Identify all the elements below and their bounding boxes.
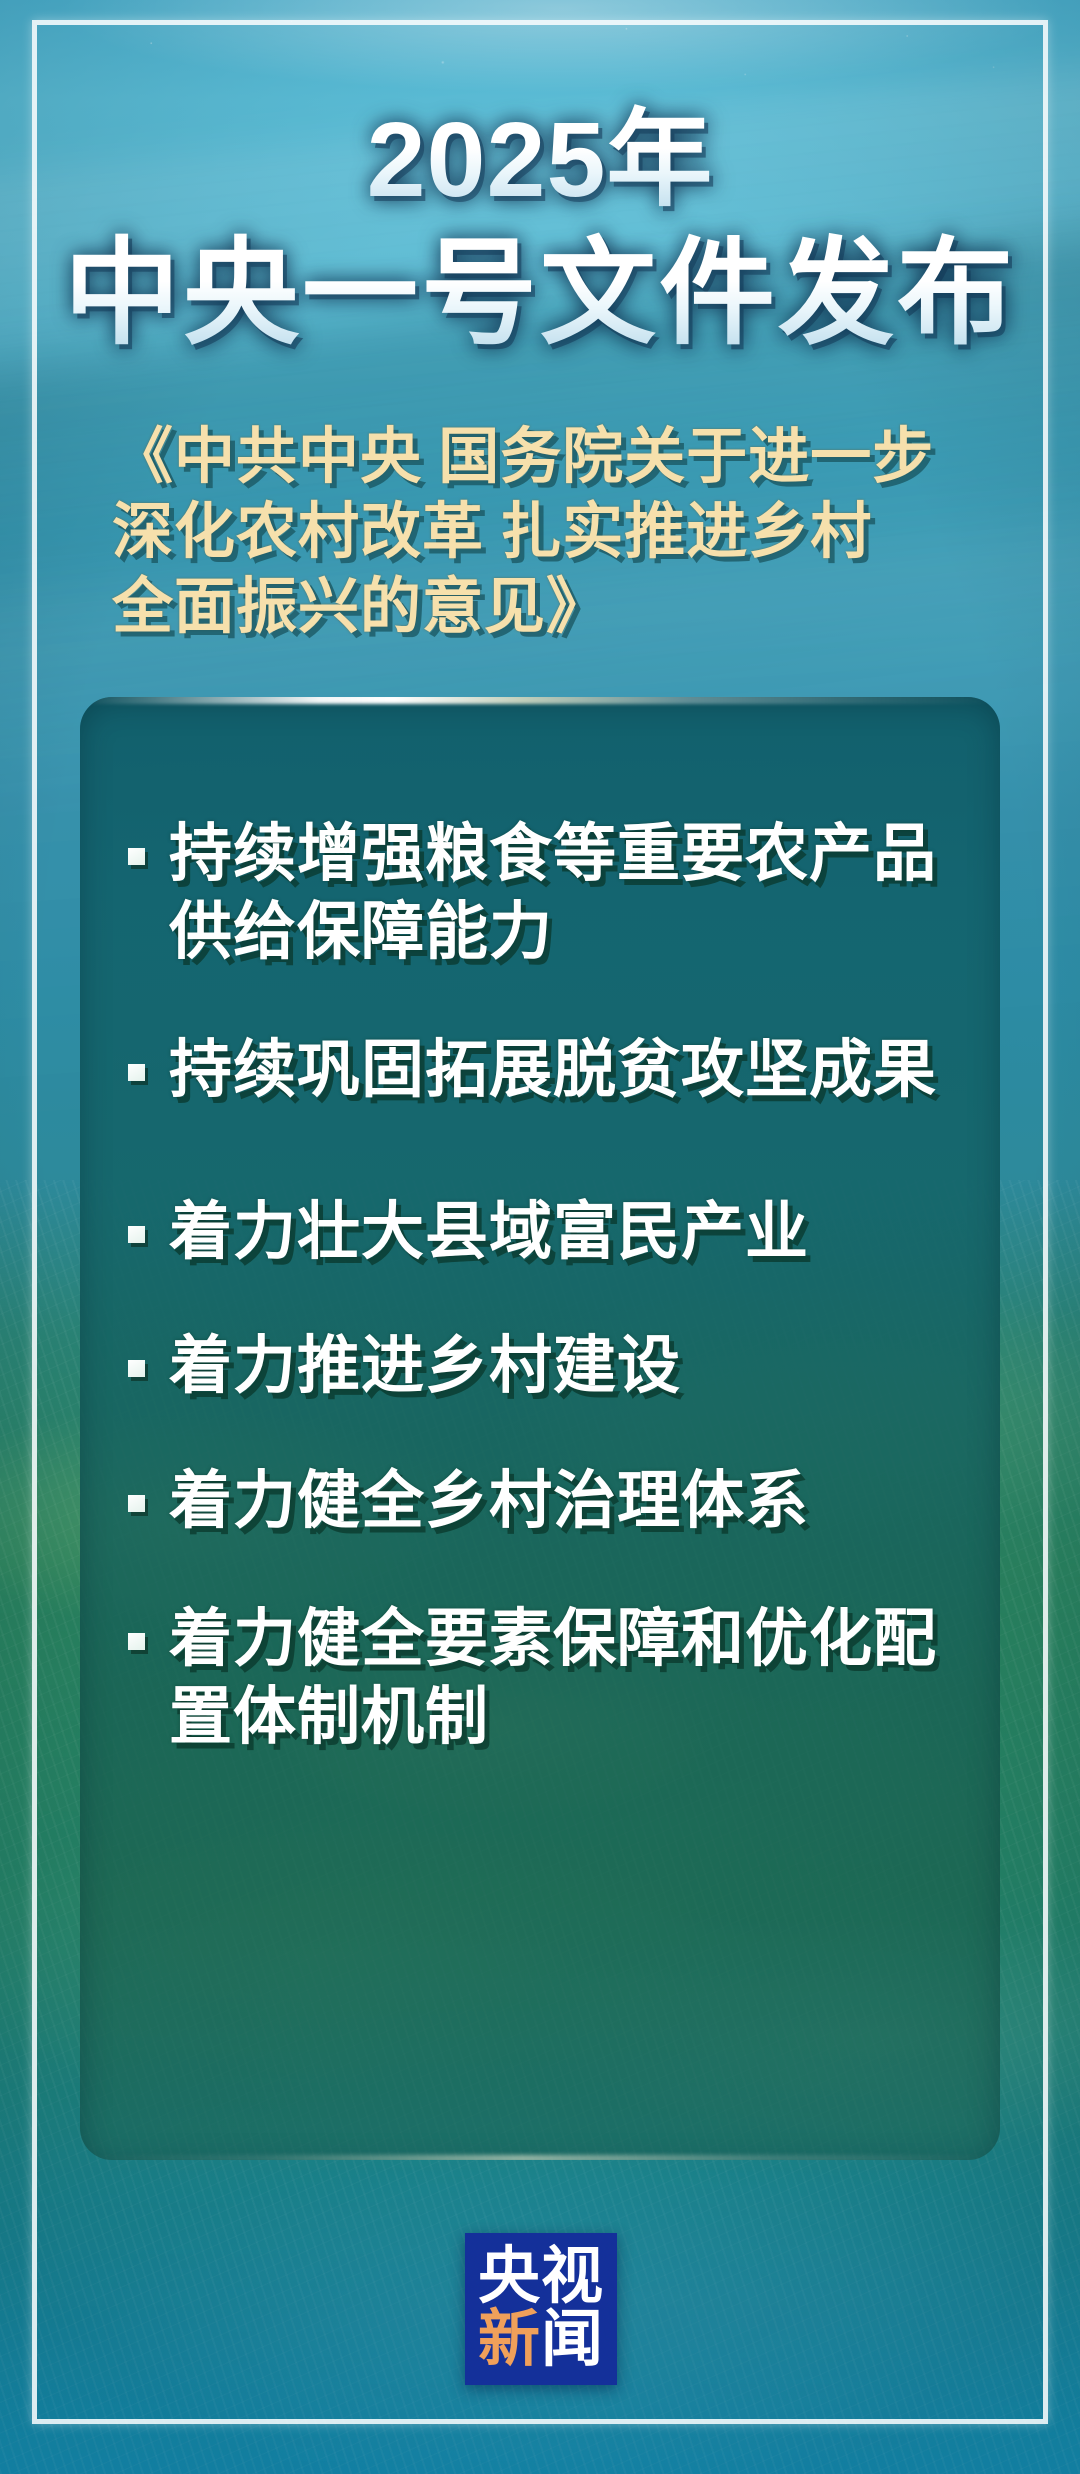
subtitle-line-3: 全面振兴的意见》 bbox=[112, 570, 990, 645]
bullet-square-icon bbox=[128, 1226, 145, 1243]
bullet-square-icon bbox=[128, 1633, 145, 1650]
page-title-year: 2025年 bbox=[0, 104, 1080, 216]
header-titles: 2025年 中央一号文件发布 bbox=[0, 104, 1080, 355]
card-bottom-light-streak bbox=[80, 2155, 1000, 2160]
logo-line-xinwen: 新 闻 bbox=[478, 2310, 604, 2371]
subtitle-line-2: 深化农村改革 扎实推进乡村 bbox=[112, 495, 990, 570]
bullet-square-icon bbox=[128, 848, 145, 865]
list-item-label: 着力健全乡村治理体系 bbox=[169, 1462, 809, 1540]
logo-char-wen: 闻 bbox=[541, 2310, 604, 2371]
logo-char-xin: 新 bbox=[478, 2310, 541, 2371]
logo-line-yangshi: 央视 bbox=[478, 2247, 604, 2308]
subtitle-line-1: 《中共中央 国务院关于进一步 bbox=[112, 420, 990, 495]
list-item: 着力健全要素保障和优化配置体制机制 bbox=[128, 1600, 974, 1756]
list-item: 着力推进乡村建设 bbox=[128, 1327, 974, 1405]
poster-root: 2025年 中央一号文件发布 《中共中央 国务院关于进一步 深化农村改革 扎实推… bbox=[0, 0, 1080, 2474]
list-item-label: 持续巩固拓展脱贫攻坚成果 bbox=[169, 1031, 937, 1109]
cctv-news-logo: 央视 新 闻 bbox=[465, 2233, 617, 2385]
bullet-square-icon bbox=[128, 1360, 145, 1377]
card-top-light-streak bbox=[80, 697, 1000, 704]
page-title-main: 中央一号文件发布 bbox=[0, 232, 1080, 355]
list-item-label: 持续增强粮食等重要农产品供给保障能力 bbox=[169, 815, 974, 971]
list-item-label: 着力推进乡村建设 bbox=[169, 1327, 681, 1405]
list-item: 持续增强粮食等重要农产品供给保障能力 bbox=[128, 815, 974, 971]
list-item: 着力壮大县域富民产业 bbox=[128, 1193, 974, 1271]
document-subtitle: 《中共中央 国务院关于进一步 深化农村改革 扎实推进乡村 全面振兴的意见》 bbox=[112, 420, 990, 645]
highlights-card: 持续增强粮食等重要农产品供给保障能力 持续巩固拓展脱贫攻坚成果 着力壮大县域富民… bbox=[80, 697, 1000, 2160]
list-item-label: 着力健全要素保障和优化配置体制机制 bbox=[169, 1600, 974, 1756]
list-item: 持续巩固拓展脱贫攻坚成果 bbox=[128, 1031, 974, 1109]
highlights-list: 持续增强粮食等重要农产品供给保障能力 持续巩固拓展脱贫攻坚成果 着力壮大县域富民… bbox=[128, 815, 974, 1756]
bullet-square-icon bbox=[128, 1064, 145, 1081]
bullet-square-icon bbox=[128, 1495, 145, 1512]
list-item-label: 着力壮大县域富民产业 bbox=[169, 1193, 809, 1271]
list-item: 着力健全乡村治理体系 bbox=[128, 1462, 974, 1540]
